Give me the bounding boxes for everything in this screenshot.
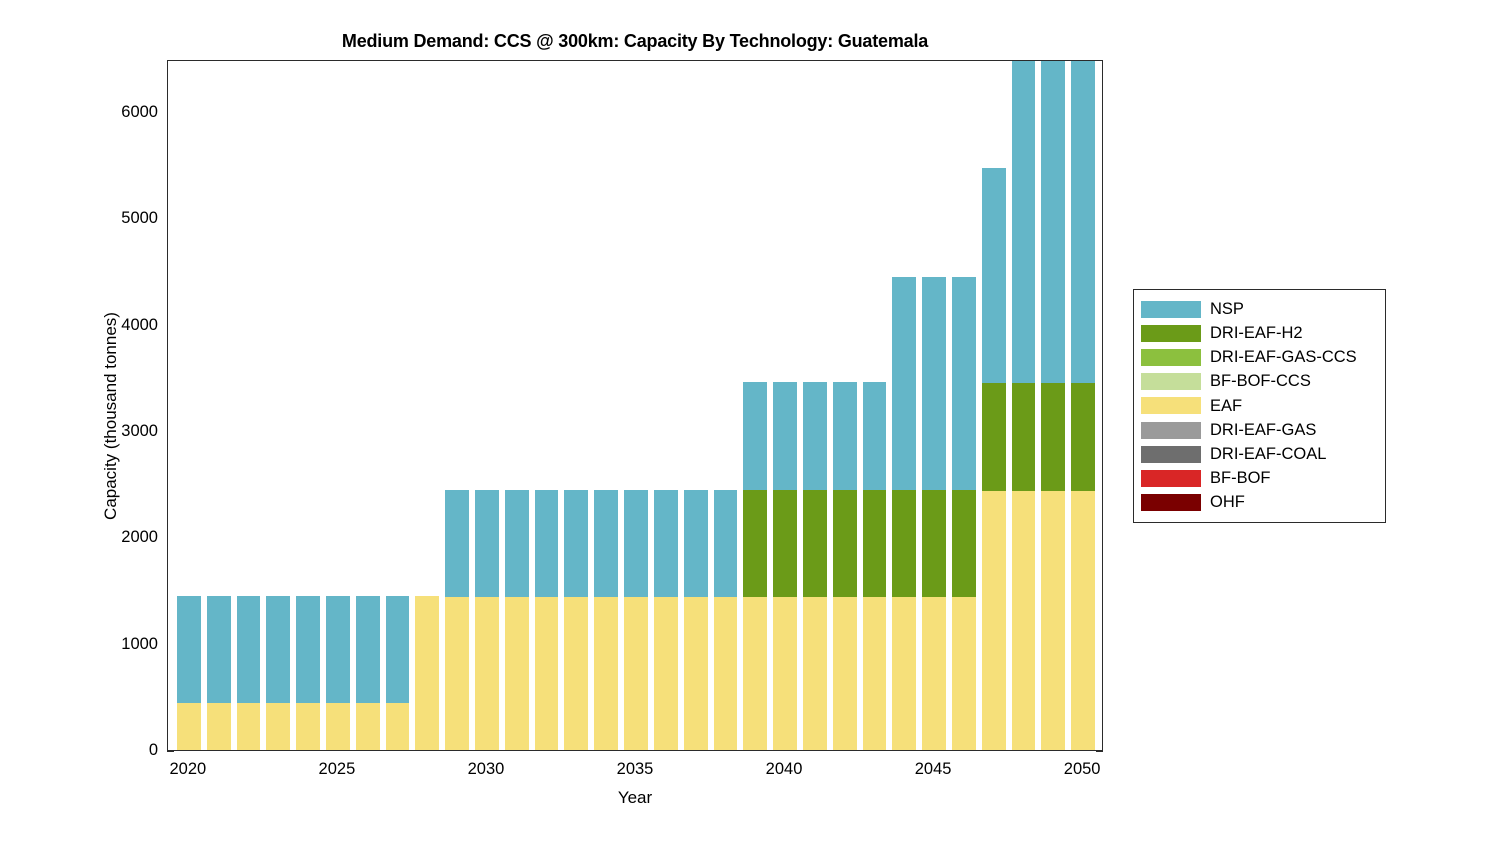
bar-segment-eaf (1012, 491, 1036, 750)
x-tick-label: 2050 (1042, 760, 1122, 779)
bar-column (535, 60, 559, 750)
legend-item-eaf[interactable]: EAF (1134, 394, 1385, 418)
legend-item-label: EAF (1210, 398, 1242, 415)
bar-segment-eaf (237, 703, 261, 750)
bar-segment-dri-eaf-h2 (773, 490, 797, 597)
bar-segment-eaf (863, 597, 887, 750)
bar-segment-eaf (654, 597, 678, 750)
bar-segment-eaf (952, 597, 976, 750)
bar-column (714, 60, 738, 750)
bar-segment-eaf (356, 703, 380, 750)
bar-column (863, 60, 887, 750)
bar-column (922, 60, 946, 750)
bar-segment-nsp (684, 490, 708, 597)
y-tick-mark (167, 751, 174, 752)
legend-item-bf-bof[interactable]: BF-BOF (1134, 466, 1385, 490)
legend: NSPDRI-EAF-H2DRI-EAF-GAS-CCSBF-BOF-CCSEA… (1133, 289, 1386, 523)
bar-segment-nsp (654, 490, 678, 597)
bar-segment-nsp (326, 596, 350, 703)
bar-column (624, 60, 648, 750)
chart-figure: Medium Demand: CCS @ 300km: Capacity By … (0, 0, 1500, 844)
bar-segment-dri-eaf-h2 (952, 490, 976, 597)
bar-segment-nsp (505, 490, 529, 597)
legend-item-dri-eaf-coal[interactable]: DRI-EAF-COAL (1134, 442, 1385, 466)
bar-segment-nsp (1071, 60, 1095, 383)
legend-item-label: BF-BOF (1210, 470, 1271, 487)
bar-segment-nsp (475, 490, 499, 597)
bar-column (1041, 60, 1065, 750)
legend-item-dri-eaf-gas[interactable]: DRI-EAF-GAS (1134, 418, 1385, 442)
bar-column (684, 60, 708, 750)
bar-column (326, 60, 350, 750)
bar-segment-eaf (773, 597, 797, 750)
bar-segment-nsp (714, 490, 738, 597)
bar-segment-eaf (386, 703, 410, 750)
legend-item-nsp[interactable]: NSP (1134, 297, 1385, 321)
bar-column (833, 60, 857, 750)
bar-column (564, 60, 588, 750)
legend-item-label: NSP (1210, 301, 1244, 318)
bar-segment-eaf (833, 597, 857, 750)
y-tick-label: 0 (60, 741, 158, 760)
legend-item-dri-eaf-h2[interactable]: DRI-EAF-H2 (1134, 321, 1385, 345)
legend-item-label: DRI-EAF-GAS (1210, 422, 1316, 439)
bar-segment-dri-eaf-h2 (863, 490, 887, 597)
legend-swatch-icon (1141, 397, 1201, 414)
bar-column (445, 60, 469, 750)
x-tick-label: 2025 (297, 760, 377, 779)
bar-segment-nsp (594, 490, 618, 597)
bar-segment-nsp (1041, 60, 1065, 383)
y-tick-label: 1000 (60, 635, 158, 654)
bar-column (773, 60, 797, 750)
bar-segment-dri-eaf-h2 (1071, 383, 1095, 490)
bar-column (654, 60, 678, 750)
bar-segment-eaf (1041, 491, 1065, 750)
bar-segment-eaf (922, 597, 946, 750)
bar-segment-eaf (535, 597, 559, 750)
bar-segment-nsp (863, 382, 887, 489)
legend-swatch-icon (1141, 446, 1201, 463)
legend-item-label: DRI-EAF-H2 (1210, 325, 1303, 342)
bar-segment-eaf (892, 597, 916, 750)
bar-segment-nsp (803, 382, 827, 489)
bar-segment-nsp (773, 382, 797, 489)
x-tick-label: 2040 (744, 760, 824, 779)
bar-column (892, 60, 916, 750)
legend-swatch-icon (1141, 422, 1201, 439)
bar-column (952, 60, 976, 750)
bar-column (594, 60, 618, 750)
bar-segment-dri-eaf-h2 (803, 490, 827, 597)
bar-segment-nsp (952, 277, 976, 490)
bars-layer (168, 61, 1102, 750)
bar-segment-dri-eaf-h2 (1041, 383, 1065, 490)
legend-swatch-icon (1141, 494, 1201, 511)
bar-column (237, 60, 261, 750)
bar-segment-dri-eaf-h2 (833, 490, 857, 597)
page-title: Medium Demand: CCS @ 300km: Capacity By … (167, 31, 1103, 52)
x-tick-label: 2030 (446, 760, 526, 779)
bar-segment-eaf (982, 491, 1006, 750)
bar-segment-eaf (266, 703, 290, 750)
bar-segment-nsp (833, 382, 857, 489)
bar-segment-eaf (475, 597, 499, 750)
legend-swatch-icon (1141, 470, 1201, 487)
legend-swatch-icon (1141, 325, 1201, 342)
legend-item-label: DRI-EAF-COAL (1210, 446, 1326, 463)
x-axis-label: Year (167, 788, 1103, 808)
y-axis-label: Capacity (thousand tonnes) (101, 71, 121, 761)
plot-area (167, 60, 1103, 751)
bar-segment-nsp (386, 596, 410, 703)
legend-item-dri-eaf-gas-ccs[interactable]: DRI-EAF-GAS-CCS (1134, 345, 1385, 369)
x-tick-label: 2020 (148, 760, 228, 779)
bar-segment-dri-eaf-h2 (892, 490, 916, 597)
bar-segment-eaf (445, 597, 469, 750)
bar-segment-nsp (535, 490, 559, 597)
bar-segment-nsp (892, 277, 916, 490)
bar-column (1012, 60, 1036, 750)
bar-segment-nsp (1012, 60, 1036, 383)
bar-segment-eaf (714, 597, 738, 750)
x-tick-label: 2035 (595, 760, 675, 779)
bar-segment-eaf (684, 597, 708, 750)
legend-item-label: DRI-EAF-GAS-CCS (1210, 349, 1357, 366)
bar-column (1071, 60, 1095, 750)
bar-segment-eaf (415, 596, 439, 750)
y-tick-label: 2000 (60, 528, 158, 547)
y-tick-label: 3000 (60, 422, 158, 441)
bar-segment-dri-eaf-h2 (922, 490, 946, 597)
legend-swatch-icon (1141, 373, 1201, 390)
bar-segment-eaf (564, 597, 588, 750)
bar-segment-eaf (296, 703, 320, 750)
y-tick-mark (1096, 751, 1103, 752)
y-tick-label: 5000 (60, 209, 158, 228)
bar-segment-nsp (207, 596, 231, 703)
bar-segment-eaf (743, 597, 767, 750)
bar-column (386, 60, 410, 750)
bar-segment-nsp (356, 596, 380, 703)
bar-column (743, 60, 767, 750)
bar-segment-nsp (237, 596, 261, 703)
bar-column (207, 60, 231, 750)
bar-segment-eaf (177, 703, 201, 750)
bar-segment-nsp (296, 596, 320, 703)
bar-segment-nsp (266, 596, 290, 703)
bar-segment-eaf (326, 703, 350, 750)
bar-column (296, 60, 320, 750)
bar-segment-eaf (207, 703, 231, 750)
bar-column (266, 60, 290, 750)
bar-segment-nsp (922, 277, 946, 490)
bar-column (803, 60, 827, 750)
bar-segment-eaf (1071, 491, 1095, 750)
bar-column (505, 60, 529, 750)
y-tick-label: 4000 (60, 316, 158, 335)
bar-segment-nsp (743, 382, 767, 489)
legend-item-label: BF-BOF-CCS (1210, 373, 1311, 390)
bar-segment-dri-eaf-h2 (1012, 383, 1036, 490)
legend-swatch-icon (1141, 301, 1201, 318)
bar-segment-nsp (624, 490, 648, 597)
bar-segment-nsp (564, 490, 588, 597)
bar-segment-dri-eaf-h2 (982, 383, 1006, 490)
bar-column (475, 60, 499, 750)
bar-segment-eaf (594, 597, 618, 750)
y-tick-label: 6000 (60, 103, 158, 122)
legend-swatch-icon (1141, 349, 1201, 366)
bar-segment-eaf (803, 597, 827, 750)
legend-item-bf-bof-ccs[interactable]: BF-BOF-CCS (1134, 370, 1385, 394)
bar-column (356, 60, 380, 750)
bar-column (982, 60, 1006, 750)
bar-segment-eaf (624, 597, 648, 750)
bar-column (415, 60, 439, 750)
x-tick-label: 2045 (893, 760, 973, 779)
bar-segment-dri-eaf-h2 (743, 490, 767, 597)
bar-segment-nsp (177, 596, 201, 703)
bar-segment-eaf (505, 597, 529, 750)
bar-segment-nsp (982, 168, 1006, 383)
bar-column (177, 60, 201, 750)
bar-segment-nsp (445, 490, 469, 597)
legend-item-label: OHF (1210, 494, 1245, 511)
legend-item-ohf[interactable]: OHF (1134, 491, 1385, 515)
